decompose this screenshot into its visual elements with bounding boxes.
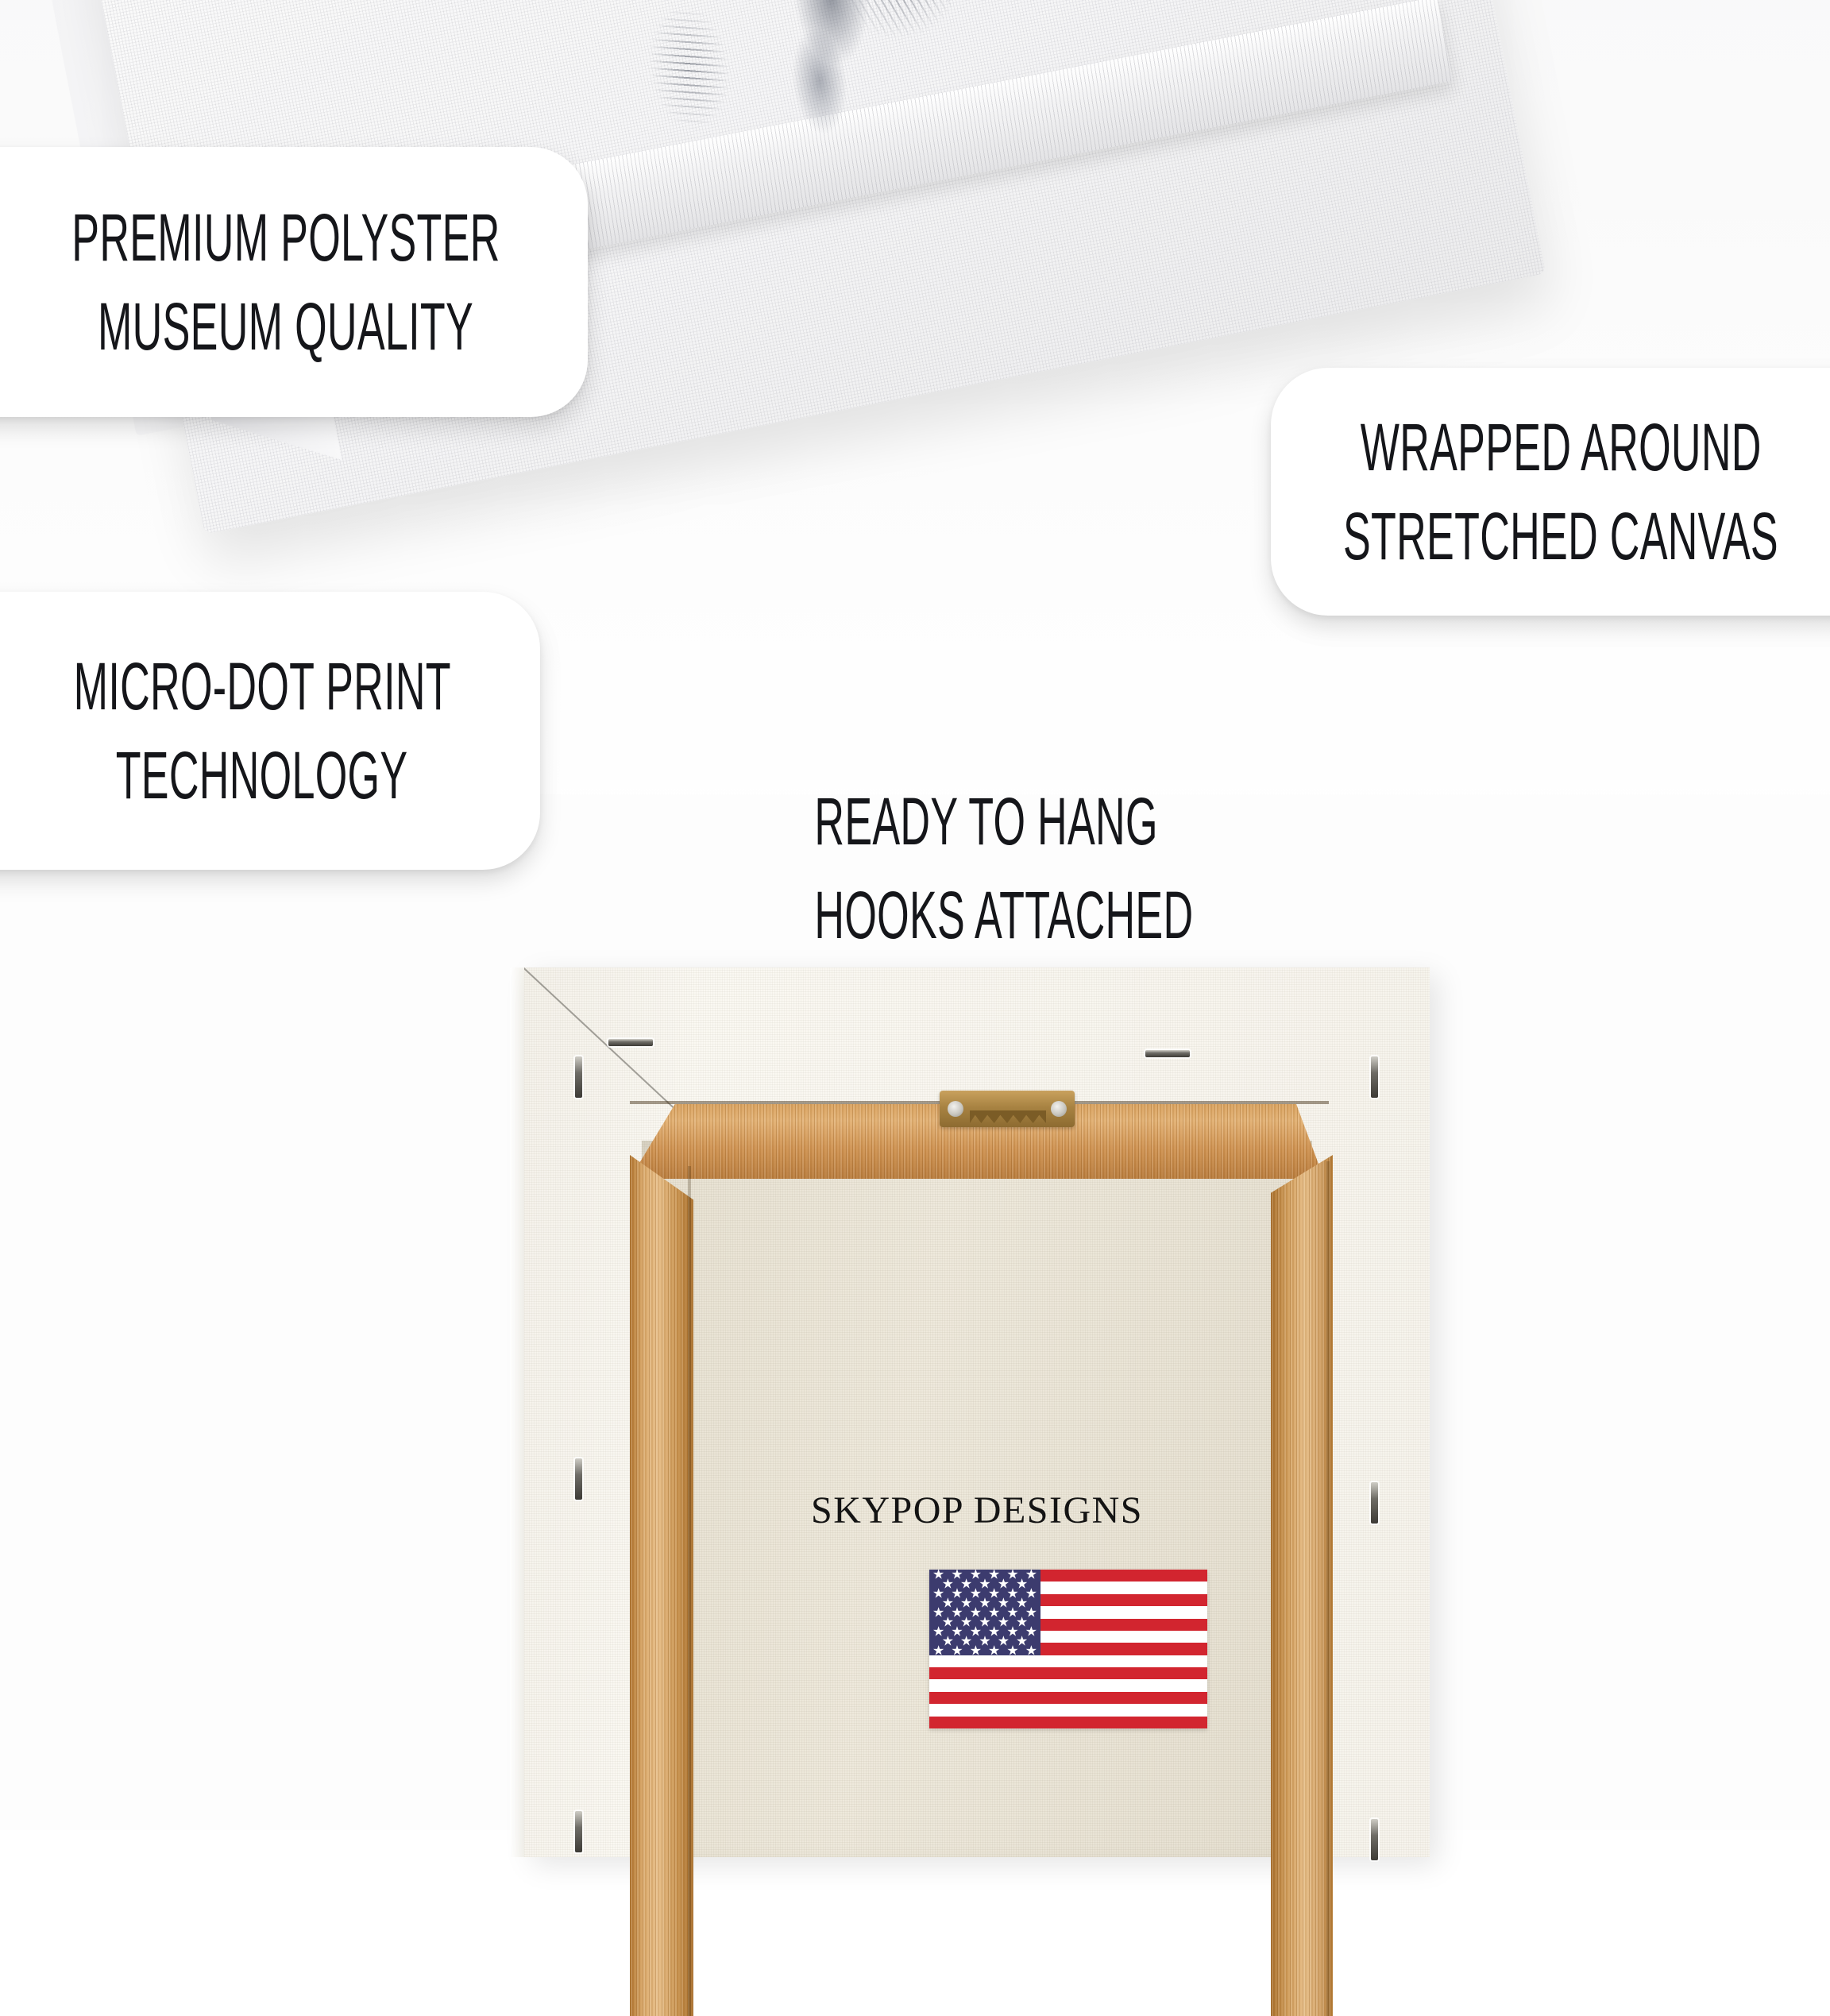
callout-line: STRETCHED CANVAS [1343, 492, 1778, 581]
canvas-back-photo: SKYPOP DESIGNS ★★★★★★★★★★★★★★★★★★★★★★★★★… [524, 967, 1430, 1857]
staple [575, 1458, 582, 1500]
heading-line-2: HOOKS ATTACHED [814, 868, 1139, 962]
callout-line: WRAPPED AROUND [1361, 403, 1762, 492]
flag-stripe [929, 1679, 1207, 1691]
staple [1371, 1482, 1378, 1524]
callout-line: MUSEUM QUALITY [98, 282, 473, 371]
callout-line: MICRO-DOT PRINT [73, 642, 450, 731]
usa-flag-icon: ★★★★★★★★★★★★★★★★★★★★★★★★★★★★★★★★★★★★★★★★… [929, 1570, 1207, 1728]
staple [1371, 1056, 1378, 1098]
flag-stripe [929, 1717, 1207, 1728]
callout-premium-polyster: PREMIUM POLYSTER MUSEUM QUALITY [0, 147, 588, 417]
staple [608, 1039, 653, 1046]
callout-line: TECHNOLOGY [116, 731, 408, 820]
callout-wrapped-around-stretched-canvas: WRAPPED AROUND STRETCHED CANVAS [1271, 368, 1830, 616]
stretcher-bar-left [630, 1155, 693, 2016]
heading-line-1: READY TO HANG [814, 774, 1139, 868]
sawtooth-hanger [940, 1091, 1075, 1127]
stretcher-bar-right [1271, 1155, 1333, 2016]
hanger-screw-left [948, 1101, 963, 1117]
flag-star: ★ [932, 1643, 944, 1657]
flag-star: ★ [970, 1643, 982, 1657]
seam-left [688, 1166, 691, 2016]
wood-grain-texture [1271, 1155, 1333, 2016]
brand-label: SKYPOP DESIGNS [642, 1489, 1312, 1532]
staple [1371, 1819, 1378, 1860]
artwork-illustration-detail [606, 0, 773, 168]
flag-star: ★ [1006, 1643, 1018, 1657]
flag-stripe [929, 1704, 1207, 1716]
flag-stripe [929, 1667, 1207, 1679]
flag-star: ★ [951, 1643, 963, 1657]
hanger-screw-right [1051, 1101, 1067, 1117]
flag-stripe [929, 1692, 1207, 1704]
seam-right [1326, 1161, 1330, 2016]
staple [575, 1811, 582, 1852]
ready-to-hang-heading: READY TO HANG HOOKS ATTACHED [715, 774, 1239, 962]
wood-grain-texture [630, 1155, 693, 2016]
flag-star: ★ [1025, 1643, 1037, 1657]
callout-line: PREMIUM POLYSTER [71, 193, 500, 282]
staple [1145, 1050, 1190, 1057]
product-infographic: PREMIUM POLYSTER MUSEUM QUALITY MICRO-DO… [0, 0, 1830, 1830]
callout-micro-dot-print: MICRO-DOT PRINT TECHNOLOGY [0, 592, 540, 870]
flag-canton: ★★★★★★★★★★★★★★★★★★★★★★★★★★★★★★★★★★★★★★★★… [929, 1570, 1040, 1655]
flag-star: ★ [988, 1643, 1000, 1657]
staple [575, 1056, 582, 1098]
